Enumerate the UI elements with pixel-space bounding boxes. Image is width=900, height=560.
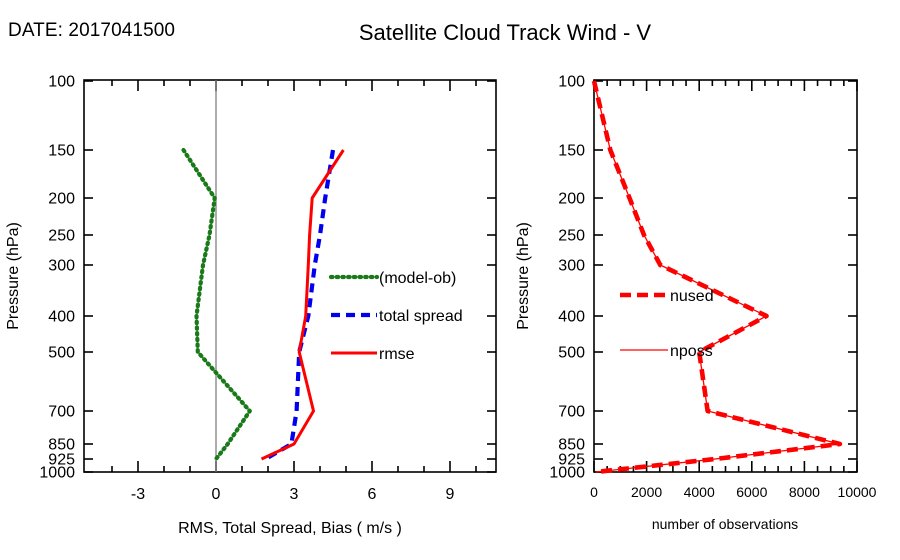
- series-line: [262, 150, 344, 459]
- y-tick-label: 1000: [39, 465, 75, 482]
- series-line: [594, 81, 840, 472]
- legend-label: total spread: [379, 308, 463, 325]
- y-tick-label: 700: [558, 404, 585, 421]
- legend-label: rmse: [379, 346, 415, 363]
- x-tick-label: 10000: [838, 484, 877, 500]
- x-tick-label: 0: [590, 484, 598, 500]
- legend-label: nposs: [670, 343, 713, 360]
- legend-label: nused: [670, 288, 714, 305]
- y-tick-label: 700: [48, 404, 75, 421]
- left-legend: (model-ob)total spreadrmse: [331, 270, 463, 363]
- right-x-axis-title: number of observations: [652, 516, 798, 532]
- y-tick-label: 500: [48, 345, 75, 362]
- y-tick-label: 250: [48, 228, 75, 245]
- x-tick-label: 0: [212, 486, 221, 503]
- y-tick-label: 150: [558, 143, 585, 160]
- x-tick-label: 3: [290, 486, 299, 503]
- right-data-series: [594, 81, 840, 472]
- right-y-axis-labels: 1001502002503004005007008509251000: [549, 74, 585, 482]
- y-tick-label: 400: [48, 309, 75, 326]
- x-tick-label: 6000: [736, 484, 767, 500]
- left-x-axis-title: RMS, Total Spread, Bias ( m/s ): [178, 520, 402, 537]
- y-tick-label: 400: [558, 309, 585, 326]
- left-y-axis-labels: 1001502002503004005007008509251000: [39, 74, 75, 482]
- left-y-axis-title: Pressure (hPa): [5, 222, 22, 330]
- y-tick-label: 200: [558, 191, 585, 208]
- series-line: [265, 150, 333, 459]
- right-x-axis-labels: 0200040006000800010000: [590, 484, 877, 500]
- y-tick-label: 100: [558, 74, 585, 91]
- y-tick-label: 100: [48, 74, 75, 91]
- y-tick-label: 300: [558, 258, 585, 275]
- left-x-axis-labels: -30369: [131, 486, 455, 503]
- y-tick-label: 1000: [549, 465, 585, 482]
- x-tick-label: -3: [131, 486, 145, 503]
- left-data-series: [184, 150, 344, 459]
- right-y-axis-title: Pressure (hPa): [515, 222, 532, 330]
- y-tick-label: 150: [48, 143, 75, 160]
- y-tick-label: 250: [558, 228, 585, 245]
- x-tick-label: 6: [368, 486, 377, 503]
- y-tick-label: 500: [558, 345, 585, 362]
- x-tick-label: 8000: [789, 484, 820, 500]
- plot-canvas: 1001502002503004005007008509251000 -3036…: [0, 0, 900, 560]
- y-tick-label: 200: [48, 191, 75, 208]
- right-legend: nusednposs: [620, 288, 714, 360]
- x-tick-label: 9: [446, 486, 455, 503]
- legend-label: (model-ob): [379, 270, 456, 287]
- x-tick-label: 2000: [631, 484, 662, 500]
- x-tick-label: 4000: [684, 484, 715, 500]
- y-tick-label: 300: [48, 258, 75, 275]
